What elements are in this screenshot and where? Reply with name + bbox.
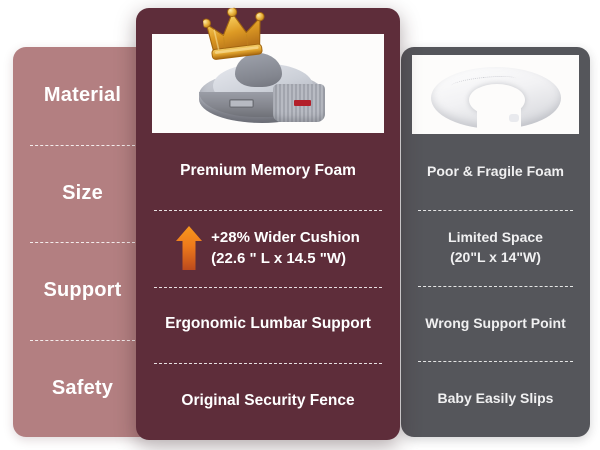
other-safety-text: Baby Easily Slips — [430, 389, 562, 409]
criteria-row-size: Size — [13, 145, 152, 243]
our-size-text: +28% Wider Cushion (22.6 " L x 14.5 "W) — [211, 227, 360, 270]
other-size-line1: Limited Space — [448, 229, 543, 245]
other-product-image-panel — [412, 55, 579, 134]
our-size-line1: +28% Wider Cushion — [211, 229, 360, 246]
our-row-safety: Original Security Fence — [136, 363, 400, 440]
comparison-infographic: Material Size Support Safety — [0, 0, 600, 450]
our-safety-text: Original Security Fence — [171, 391, 364, 412]
our-support-text: Ergonomic Lumbar Support — [155, 314, 381, 335]
other-row-material: Poor & Fragile Foam — [401, 134, 590, 210]
criteria-label-size: Size — [62, 182, 103, 205]
up-arrow-icon — [176, 226, 202, 270]
other-size-line2: (20"L x 14"W) — [450, 249, 541, 265]
our-size-line2: (22.6 " L x 14.5 "W) — [211, 250, 346, 267]
our-product-rows: Premium Memory Foam — [136, 133, 400, 440]
our-row-support: Ergonomic Lumbar Support — [136, 287, 400, 364]
white-u-shaped-pillow-image — [431, 67, 561, 129]
our-row-material: Premium Memory Foam — [136, 133, 400, 210]
our-size-row-inner: +28% Wider Cushion (22.6 " L x 14.5 "W) — [168, 226, 368, 270]
criteria-label-material: Material — [44, 84, 121, 107]
criteria-row-support: Support — [13, 242, 152, 340]
other-product-column-card: Poor & Fragile Foam Limited Space (20"L … — [401, 47, 590, 437]
criteria-label-safety: Safety — [52, 377, 113, 400]
other-support-text: Wrong Support Point — [417, 314, 574, 334]
our-product-column-card: Premium Memory Foam — [136, 8, 400, 440]
our-material-text: Premium Memory Foam — [170, 161, 366, 182]
other-material-text: Poor & Fragile Foam — [419, 162, 572, 182]
criteria-label-support: Support — [43, 279, 121, 302]
other-size-text: Limited Space (20"L x 14"W) — [440, 228, 551, 267]
crown-icon — [202, 3, 282, 68]
other-row-support: Wrong Support Point — [401, 286, 590, 362]
criteria-row-safety: Safety — [13, 340, 152, 438]
criteria-row-material: Material — [13, 47, 152, 145]
criteria-rows: Material Size Support Safety — [13, 47, 152, 437]
other-row-size: Limited Space (20"L x 14"W) — [401, 210, 590, 286]
our-row-size: +28% Wider Cushion (22.6 " L x 14.5 "W) — [136, 210, 400, 287]
other-row-safety: Baby Easily Slips — [401, 361, 590, 437]
other-product-rows: Poor & Fragile Foam Limited Space (20"L … — [401, 134, 590, 437]
criteria-column-card: Material Size Support Safety — [13, 47, 152, 437]
